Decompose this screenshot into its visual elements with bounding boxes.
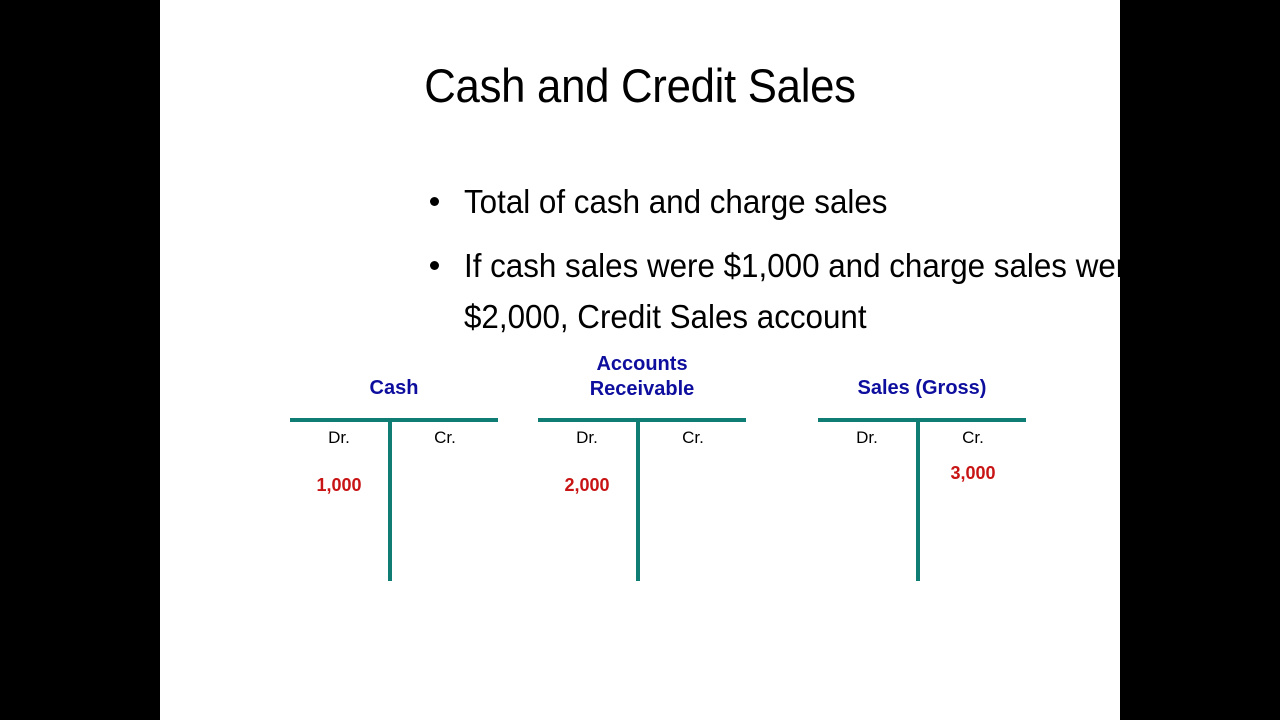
credit-column-header: Cr. xyxy=(924,427,1022,449)
list-item-label: Total of cash and charge sales xyxy=(464,176,1184,227)
t-account-cash: Cash Dr. Cr. 1,000 xyxy=(290,350,498,590)
bullet-point-icon xyxy=(430,197,439,206)
t-account-diagram: Cash Dr. Cr. 1,000 Accounts Receivable D… xyxy=(160,350,1120,600)
t-account-horizontal-rule xyxy=(290,418,498,422)
t-account-sales-gross: Sales (Gross) Dr. Cr. 3,000 xyxy=(818,350,1026,590)
credit-column-header: Cr. xyxy=(644,427,742,449)
presentation-slide: Cash and Credit Sales Total of cash and … xyxy=(160,0,1120,720)
t-account-vertical-rule xyxy=(388,418,392,581)
debit-column-header: Dr. xyxy=(538,427,636,449)
bullet-list: Total of cash and charge sales If cash s… xyxy=(422,176,1222,355)
t-account-accounts-receivable: Accounts Receivable Dr. Cr. 2,000 xyxy=(538,350,746,590)
letterbox-bar-right xyxy=(1120,0,1280,720)
debit-amount: 1,000 xyxy=(290,474,388,496)
debit-column-header: Dr. xyxy=(290,427,388,449)
t-account-horizontal-rule xyxy=(538,418,746,422)
bullet-point-icon xyxy=(430,261,439,270)
t-account-title: Accounts Receivable xyxy=(518,352,766,402)
list-item-label: If cash sales were $1,000 and charge sal… xyxy=(464,240,1184,342)
t-account-horizontal-rule xyxy=(818,418,1026,422)
t-account-vertical-rule xyxy=(916,418,920,581)
slide-stage: Cash and Credit Sales Total of cash and … xyxy=(0,0,1280,720)
t-account-title: Cash xyxy=(270,376,518,401)
page-title: Cash and Credit Sales xyxy=(194,58,1087,114)
t-account-title: Sales (Gross) xyxy=(798,376,1046,401)
letterbox-bar-left xyxy=(0,0,160,720)
list-item: Total of cash and charge sales xyxy=(422,176,1222,227)
t-account-vertical-rule xyxy=(636,418,640,581)
credit-column-header: Cr. xyxy=(396,427,494,449)
debit-amount: 2,000 xyxy=(538,474,636,496)
credit-amount: 3,000 xyxy=(924,462,1022,484)
debit-column-header: Dr. xyxy=(818,427,916,449)
list-item: If cash sales were $1,000 and charge sal… xyxy=(422,240,1222,342)
